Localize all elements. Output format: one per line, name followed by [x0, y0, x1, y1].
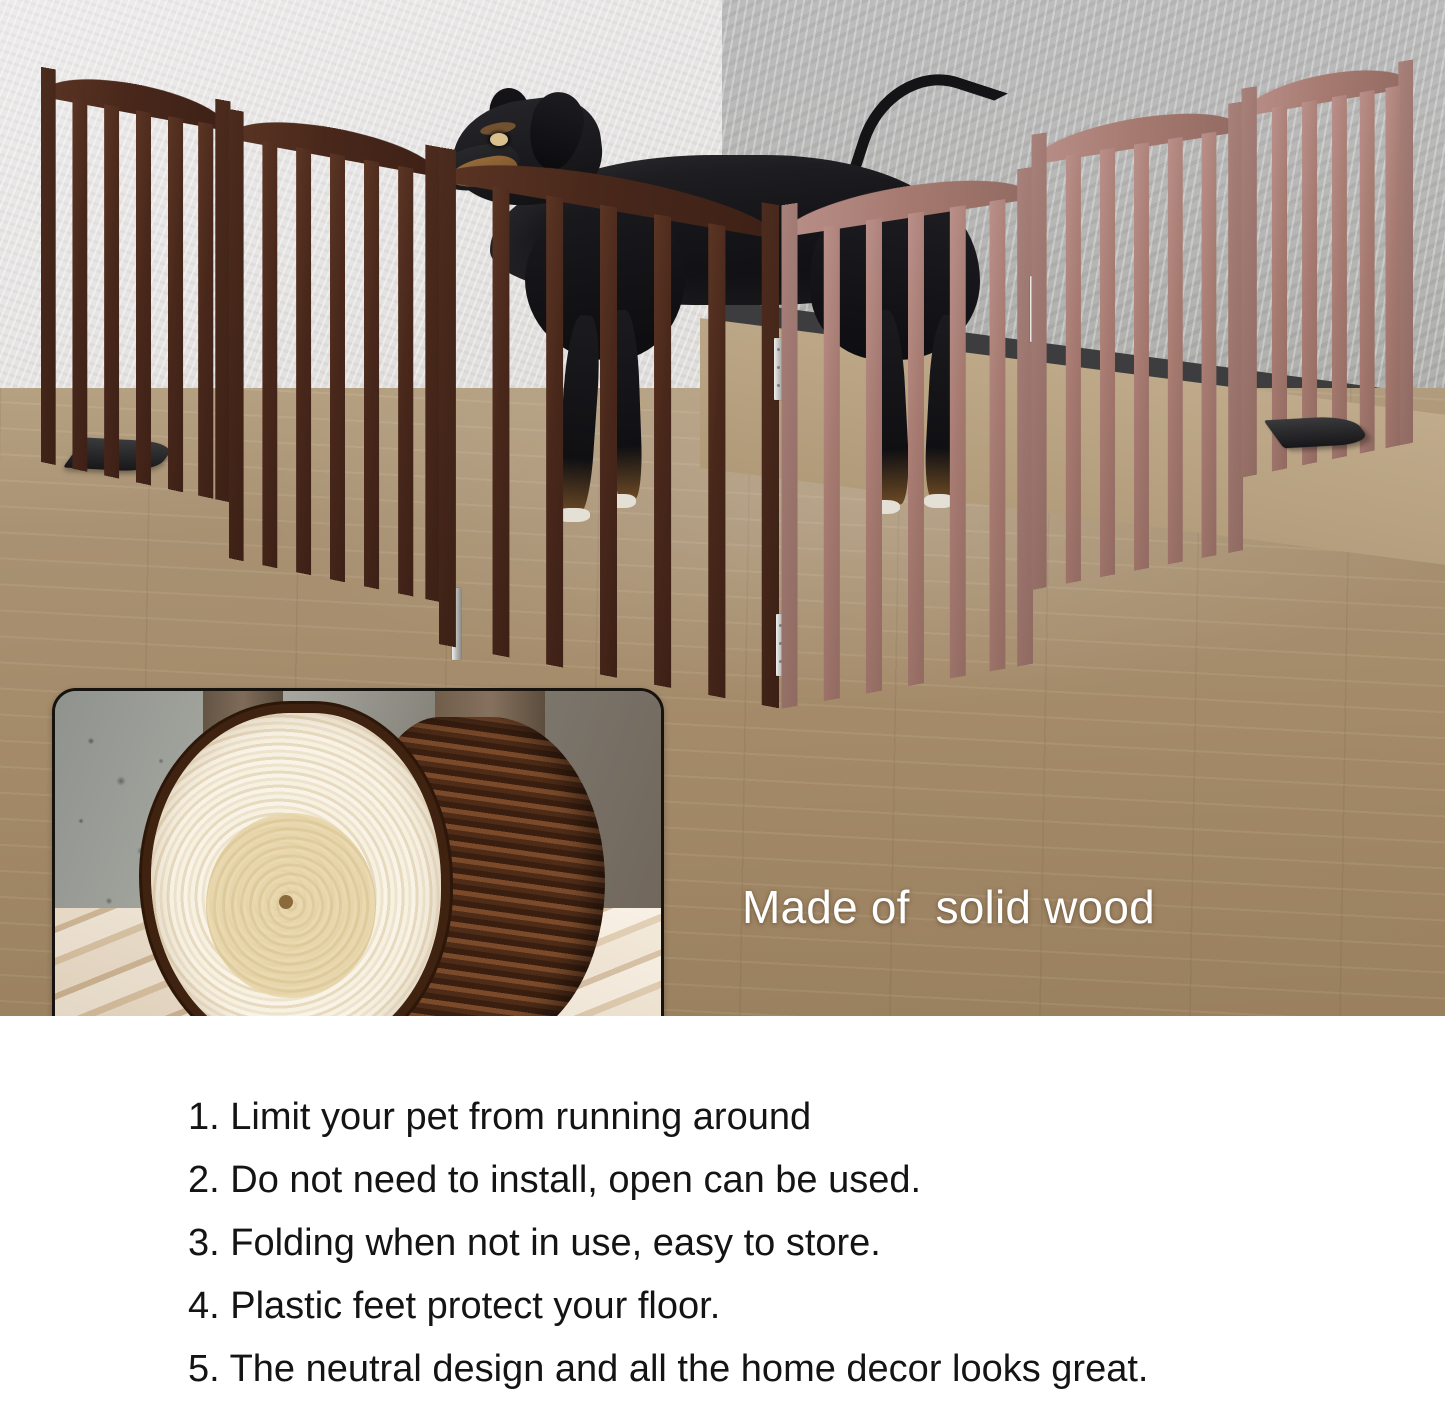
- gate-panel-3: [439, 147, 779, 708]
- gate-panel-6: [1242, 59, 1413, 477]
- headline-made-of-solid-wood: Made of solid wood: [742, 884, 1155, 930]
- feature-item-5: 5. The neutral design and all the home d…: [188, 1350, 1445, 1388]
- log-cross-section: [151, 713, 441, 1016]
- log-pith-center: [279, 895, 293, 909]
- gate-panel-5: [1031, 101, 1242, 590]
- hinge-pin: [777, 366, 780, 369]
- gate-panel-2: [229, 109, 441, 602]
- gate-panel-1: [41, 67, 231, 503]
- feature-item-2: 2. Do not need to install, open can be u…: [188, 1161, 1445, 1199]
- feature-item-4: 4. Plastic feet protect your floor.: [188, 1287, 1445, 1325]
- gate-panel-4: [781, 167, 1033, 709]
- material-inset-photo: [52, 688, 664, 1016]
- feature-list: 1. Limit your pet from running around 2.…: [0, 1016, 1445, 1424]
- feature-item-1: 1. Limit your pet from running around: [188, 1098, 1445, 1136]
- hinge-pin: [777, 348, 780, 351]
- feature-item-3: 3. Folding when not in use, easy to stor…: [188, 1224, 1445, 1262]
- hinge-pin: [777, 384, 780, 387]
- hero-product-photo: Made of solid wood: [0, 0, 1445, 1016]
